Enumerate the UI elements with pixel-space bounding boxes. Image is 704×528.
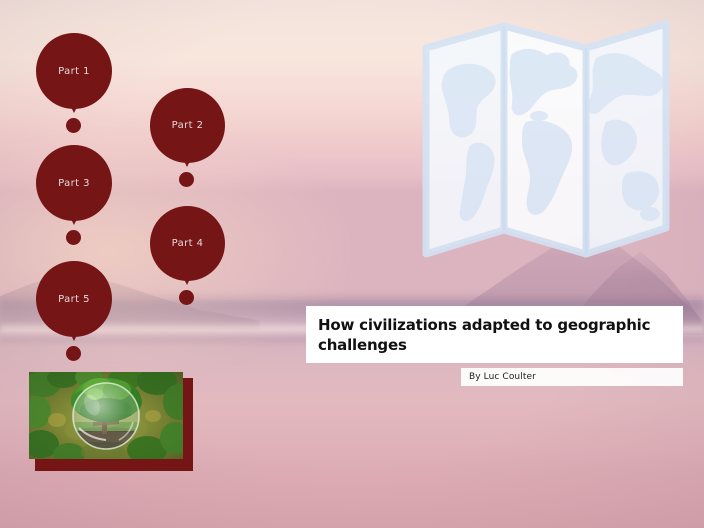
balloon-step-5[interactable]: Part 5: [36, 261, 112, 367]
balloon-tail: [67, 327, 81, 341]
byline-card[interactable]: By Luc Coulter: [461, 368, 683, 386]
photo-artwork: [29, 372, 183, 459]
balloon-tail: [67, 99, 81, 113]
balloon-label: Part 5: [58, 294, 90, 305]
balloon-bulb: Part 2: [150, 88, 225, 163]
balloon-bulb: Part 1: [36, 33, 112, 109]
balloon-label: Part 2: [172, 120, 204, 131]
folded-map-icon: [420, 18, 672, 268]
balloon-knot: [66, 346, 81, 361]
balloon-tail: [180, 153, 194, 167]
world-map-illustration: [420, 18, 672, 268]
photo-block[interactable]: [29, 372, 187, 465]
slide-title: How civilizations adapted to geographic …: [318, 316, 671, 356]
balloon-step-1[interactable]: Part 1: [36, 33, 112, 139]
balloon-bulb: Part 5: [36, 261, 112, 337]
balloon-knot: [66, 118, 81, 133]
balloon-step-3[interactable]: Part 3: [36, 145, 112, 251]
balloon-label: Part 4: [172, 238, 204, 249]
balloon-step-4[interactable]: Part 4: [150, 206, 225, 311]
byline-author: By Luc Coulter: [469, 372, 536, 382]
slide-canvas: Part 1 Part 2 Part 3 Part 4 Part 5 How: [0, 0, 704, 528]
tree-in-glass-sphere-photo: [29, 372, 183, 459]
balloon-bulb: Part 3: [36, 145, 112, 221]
balloon-step-2[interactable]: Part 2: [150, 88, 225, 193]
balloon-knot: [66, 230, 81, 245]
balloon-tail: [67, 211, 81, 225]
balloon-label: Part 1: [58, 66, 90, 77]
balloon-label: Part 3: [58, 178, 90, 189]
balloon-knot: [179, 290, 194, 305]
title-card[interactable]: How civilizations adapted to geographic …: [306, 306, 683, 363]
balloon-bulb: Part 4: [150, 206, 225, 281]
balloon-tail: [180, 271, 194, 285]
balloon-knot: [179, 172, 194, 187]
